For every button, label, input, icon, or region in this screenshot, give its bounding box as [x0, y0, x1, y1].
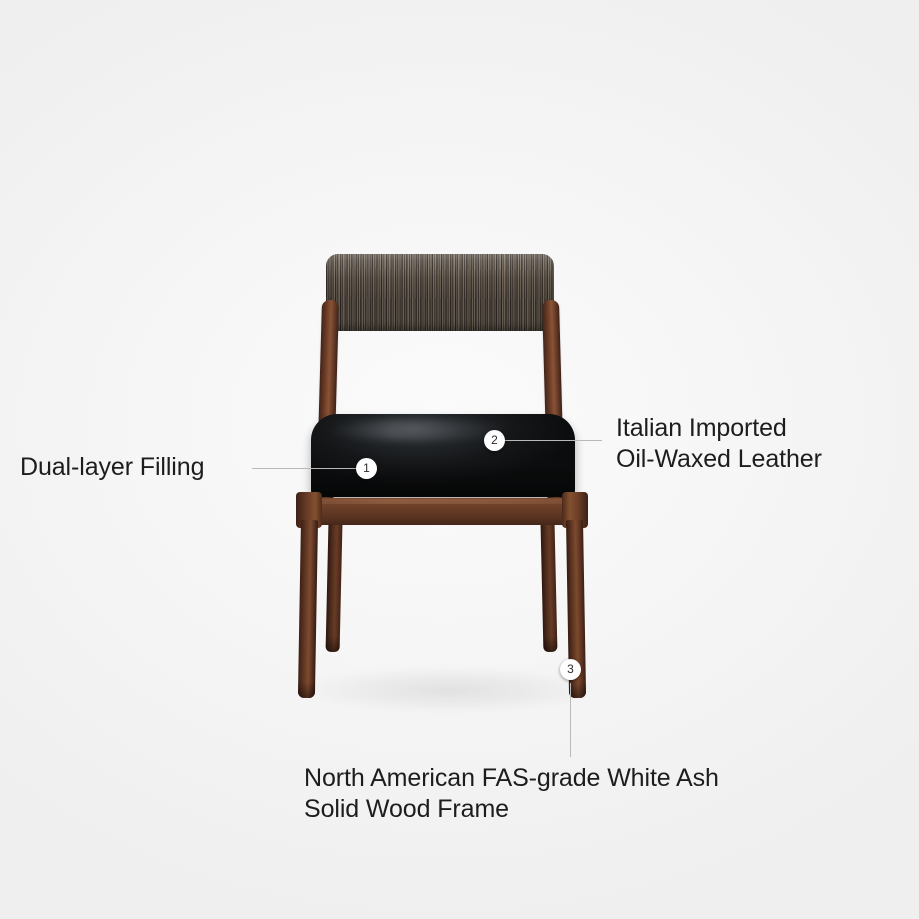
- callout-leader-line-3: [570, 683, 571, 757]
- callout-marker-2[interactable]: 2: [484, 430, 505, 451]
- callout-label-3: North American FAS-grade White Ash Solid…: [304, 763, 719, 825]
- callout-leader-line-1: [252, 468, 358, 469]
- product-callout-diagram: 1 Dual-layer Filling 2 Italian Imported …: [0, 0, 919, 919]
- callout-marker-3[interactable]: 3: [560, 659, 581, 680]
- callout-annotation-layer: 1 Dual-layer Filling 2 Italian Imported …: [0, 0, 919, 919]
- callout-label-2: Italian Imported Oil-Waxed Leather: [616, 413, 822, 475]
- callout-label-1: Dual-layer Filling: [20, 452, 204, 483]
- callout-marker-1[interactable]: 1: [356, 458, 377, 479]
- callout-leader-line-2: [500, 440, 602, 441]
